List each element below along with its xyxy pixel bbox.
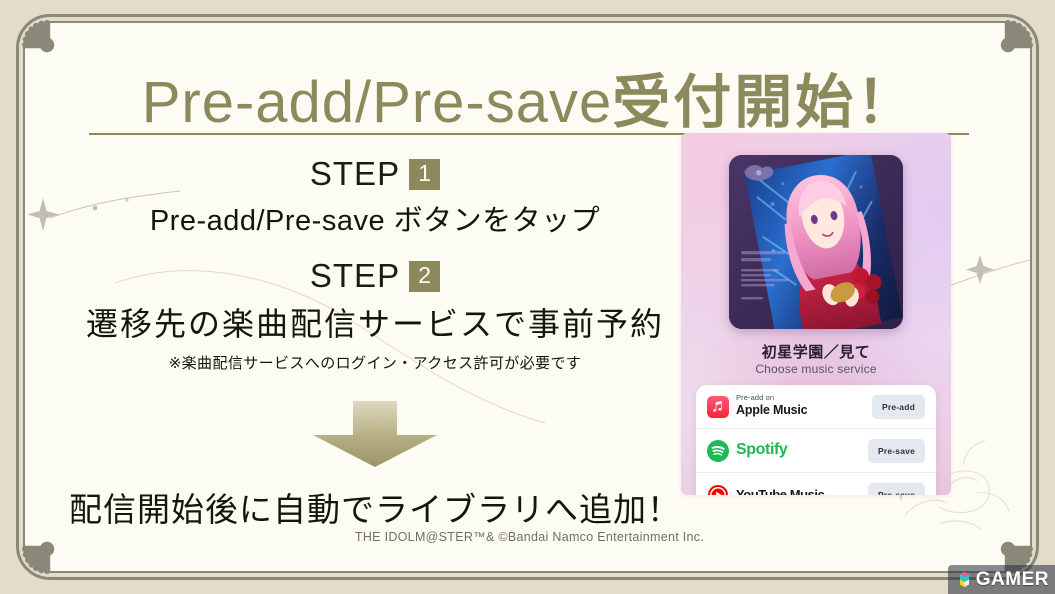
apple-music-name: Apple Music xyxy=(736,403,807,417)
spotify-icon xyxy=(707,440,729,462)
result-line: 配信開始後に自動でライブラリへ追加！ xyxy=(65,483,685,531)
step-2-description: 遷移先の楽曲配信サービスで事前予約 xyxy=(65,299,685,345)
apple-music-pre-label: Pre-add on xyxy=(736,394,872,402)
title-english: Pre-add/Pre-save xyxy=(142,70,613,135)
gamer-watermark: GAMER xyxy=(948,565,1055,594)
step-1-description: Pre-add/Pre-save ボタンをタップ xyxy=(65,197,685,239)
step-1-word: STEP xyxy=(310,155,400,193)
album-title: 初星学園／見て xyxy=(681,341,951,362)
slide-root: Pre-add/Pre-save受付開始！ STEP 1 Pre-add/Pre… xyxy=(0,0,1055,594)
down-arrow-icon xyxy=(310,401,440,467)
spotify-name: Spotify xyxy=(736,441,787,458)
youtube-music-pre-save-button[interactable]: Pre-save xyxy=(868,483,925,495)
service-list: Pre-add on Apple Music Pre-add xyxy=(696,385,936,495)
result-label: 配信開始後に自動でライブラリへ追加！ xyxy=(69,491,681,528)
page-title: Pre-add/Pre-save受付開始！ xyxy=(25,55,1032,139)
service-row-apple-music[interactable]: Pre-add on Apple Music Pre-add xyxy=(696,385,936,429)
step-2-word: STEP xyxy=(310,257,400,295)
spotify-text: Spotify xyxy=(736,442,868,459)
apple-music-pre-add-button[interactable]: Pre-add xyxy=(872,395,925,419)
youtube-music-text: YouTube Music xyxy=(736,487,868,495)
service-row-youtube-music[interactable]: YouTube Music Pre-save xyxy=(696,473,936,495)
title-japanese: 受付開始！ xyxy=(612,70,917,135)
down-arrow-container xyxy=(65,401,685,467)
album-artwork-image xyxy=(729,155,903,329)
instruction-column: STEP 1 Pre-add/Pre-save ボタンをタップ STEP 2 遷… xyxy=(65,153,685,373)
youtube-music-icon xyxy=(707,484,729,495)
result-text: 配信開始後に自動でライブラリへ追加！ xyxy=(69,483,681,531)
spotify-pre-save-button[interactable]: Pre-save xyxy=(868,439,925,463)
inner-frame: Pre-add/Pre-save受付開始！ STEP 1 Pre-add/Pre… xyxy=(23,21,1032,573)
gamer-watermark-label: GAMER xyxy=(976,570,1049,589)
gamer-logo-icon xyxy=(956,571,973,588)
step-1-heading: STEP 1 xyxy=(65,155,685,193)
phone-mockup: 初星学園／見て Choose music service xyxy=(681,133,951,495)
step-2-badge: 2 xyxy=(409,261,440,292)
album-subtitle: Choose music service xyxy=(681,362,951,376)
step-2-heading: STEP 2 xyxy=(65,257,685,295)
apple-music-text: Pre-add on Apple Music xyxy=(736,394,872,419)
apple-music-icon xyxy=(707,396,729,418)
step-2-note: ※楽曲配信サービスへのログイン・アクセス許可が必要です xyxy=(65,352,685,373)
content-canvas: Pre-add/Pre-save受付開始！ STEP 1 Pre-add/Pre… xyxy=(25,23,1032,573)
service-row-spotify[interactable]: Spotify Pre-save xyxy=(696,429,936,473)
youtube-music-name: YouTube Music xyxy=(736,487,824,495)
copyright-text: THE IDOLM@STER™& ©Bandai Namco Entertain… xyxy=(25,530,1032,544)
album-artwork xyxy=(729,155,903,329)
step-1-badge: 1 xyxy=(409,159,440,190)
